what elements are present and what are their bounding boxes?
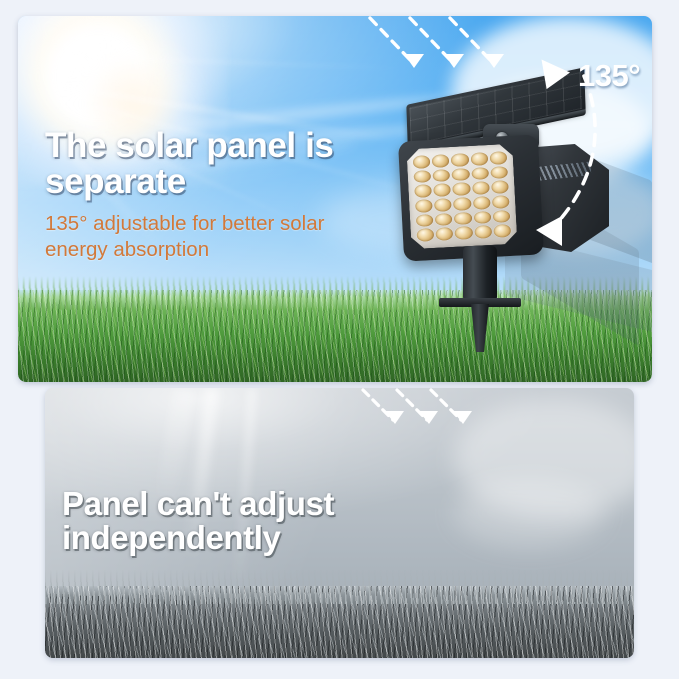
bottom-headline: Panel can't adjust independently: [62, 487, 392, 556]
gray-grass-band: [45, 586, 634, 658]
gray-cloud: [454, 478, 604, 548]
led-array: [413, 151, 511, 242]
solar-light-detached-panel: [401, 76, 641, 341]
top-headline: The solar panel is separate: [45, 128, 375, 201]
infographic-canvas: 135° The solar panel is separate 135° ad…: [0, 0, 679, 679]
light-pole: [463, 246, 497, 302]
angle-label: 135°: [578, 58, 640, 94]
top-subtitle: 135° adjustable for better solar energy …: [45, 211, 355, 263]
led-lens: [406, 144, 517, 249]
lamp-head: [398, 134, 544, 261]
